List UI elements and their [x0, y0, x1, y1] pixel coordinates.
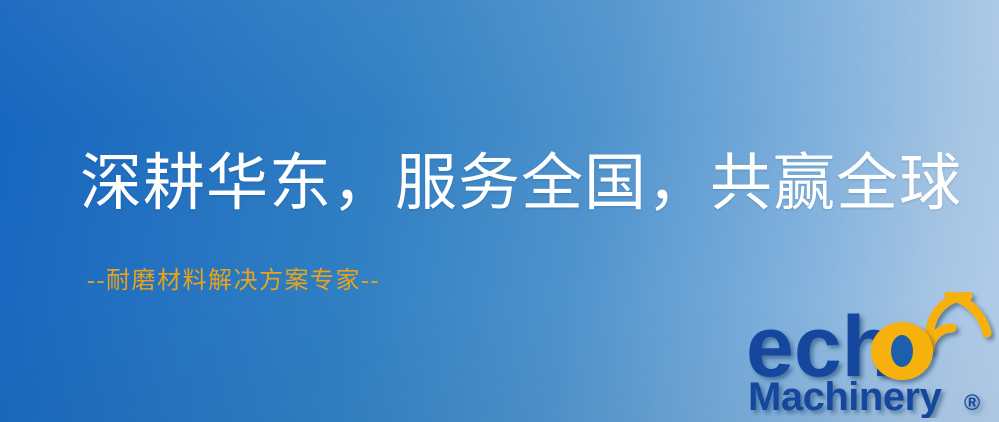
- logo-wordmark-o: [871, 322, 933, 380]
- echo-machinery-logo: ech Machinery ®: [744, 292, 996, 418]
- banner-headline: 深耕华东，服务全国，共赢全球: [80, 152, 962, 217]
- promo-banner: 深耕华东，服务全国，共赢全球 --耐磨材料解决方案专家-- ech: [0, 0, 999, 422]
- echo-wave-icon: [930, 295, 987, 350]
- logo-subtext: Machinery: [748, 375, 943, 418]
- banner-subtitle: --耐磨材料解决方案专家--: [87, 268, 380, 294]
- logo-trademark: ®: [964, 390, 980, 415]
